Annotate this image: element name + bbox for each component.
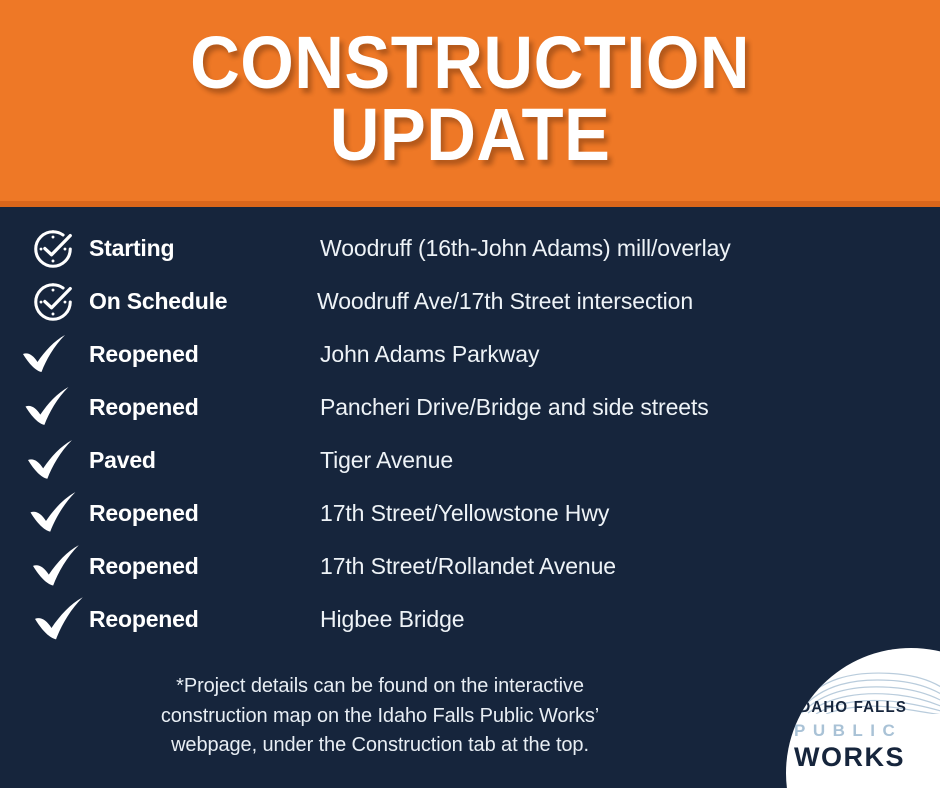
- status-icon-cell: [0, 226, 76, 272]
- status-icon-cell: [0, 279, 76, 325]
- construction-update-poster: CONSTRUCTION UPDATE: [0, 0, 940, 788]
- status-label: Reopened: [76, 500, 199, 527]
- logo-line-public: PUBLIC: [794, 722, 940, 739]
- list-item: Starting Woodruff (16th-John Adams) mill…: [0, 222, 940, 275]
- title-line-2: UPDATE: [190, 99, 750, 170]
- status-icon-cell: [0, 490, 76, 537]
- footnote-line-1: *Project details can be found on the int…: [0, 672, 760, 702]
- status-description: Tiger Avenue: [320, 447, 453, 474]
- header-banner: CONSTRUCTION UPDATE: [0, 0, 940, 201]
- status-description: Pancheri Drive/Bridge and side streets: [320, 394, 709, 421]
- page-title: CONSTRUCTION UPDATE: [190, 27, 750, 173]
- status-description: 17th Street/Rollandet Avenue: [320, 553, 616, 580]
- status-label: Paved: [76, 447, 156, 474]
- logo-line-works: WORKS: [794, 744, 940, 771]
- status-icon-cell: [0, 385, 76, 430]
- footnote-line-3: webpage, under the Construction tab at t…: [0, 731, 760, 761]
- idaho-falls-public-works-logo: IDAHO FALLS PUBLIC WORKS: [786, 648, 940, 788]
- status-description: Higbee Bridge: [320, 606, 464, 633]
- checkmark-icon: [20, 333, 70, 377]
- list-item: Reopened Higbee Bridge: [0, 593, 940, 646]
- clock-check-icon: [30, 279, 76, 325]
- status-description: Woodruff (16th-John Adams) mill/overlay: [320, 235, 731, 262]
- status-label: Reopened: [76, 606, 199, 633]
- status-icon-cell: [0, 333, 76, 377]
- status-description: Woodruff Ave/17th Street intersection: [317, 288, 693, 315]
- status-icon-cell: [0, 543, 76, 591]
- status-list: Starting Woodruff (16th-John Adams) mill…: [0, 222, 940, 646]
- status-icon-cell: [0, 595, 76, 645]
- footnote-line-2: construction map on the Idaho Falls Publ…: [0, 702, 760, 732]
- checkmark-icon: [22, 385, 74, 430]
- status-description: 17th Street/Yellowstone Hwy: [320, 500, 609, 527]
- logo-wordmark: IDAHO FALLS PUBLIC WORKS: [794, 700, 940, 771]
- list-item: Reopened 17th Street/Rollandet Avenue: [0, 540, 940, 593]
- footnote: *Project details can be found on the int…: [0, 672, 760, 761]
- logo-line-idaho-falls: IDAHO FALLS: [794, 700, 940, 716]
- status-label: Reopened: [76, 341, 199, 368]
- checkmark-icon: [24, 438, 78, 484]
- status-label: On Schedule: [76, 288, 227, 315]
- status-label: Starting: [76, 235, 174, 262]
- status-label: Reopened: [76, 394, 199, 421]
- status-icon-cell: [0, 438, 76, 484]
- clock-check-icon: [30, 226, 76, 272]
- list-item: Reopened Pancheri Drive/Bridge and side …: [0, 381, 940, 434]
- status-description: John Adams Parkway: [320, 341, 539, 368]
- list-item: Paved Tiger Avenue: [0, 434, 940, 487]
- list-item: On Schedule Woodruff Ave/17th Street int…: [0, 275, 940, 328]
- status-label: Reopened: [76, 553, 199, 580]
- list-item: Reopened John Adams Parkway: [0, 328, 940, 381]
- header-shadow-band: [0, 201, 940, 207]
- checkmark-icon: [26, 490, 82, 537]
- list-item: Reopened 17th Street/Yellowstone Hwy: [0, 487, 940, 540]
